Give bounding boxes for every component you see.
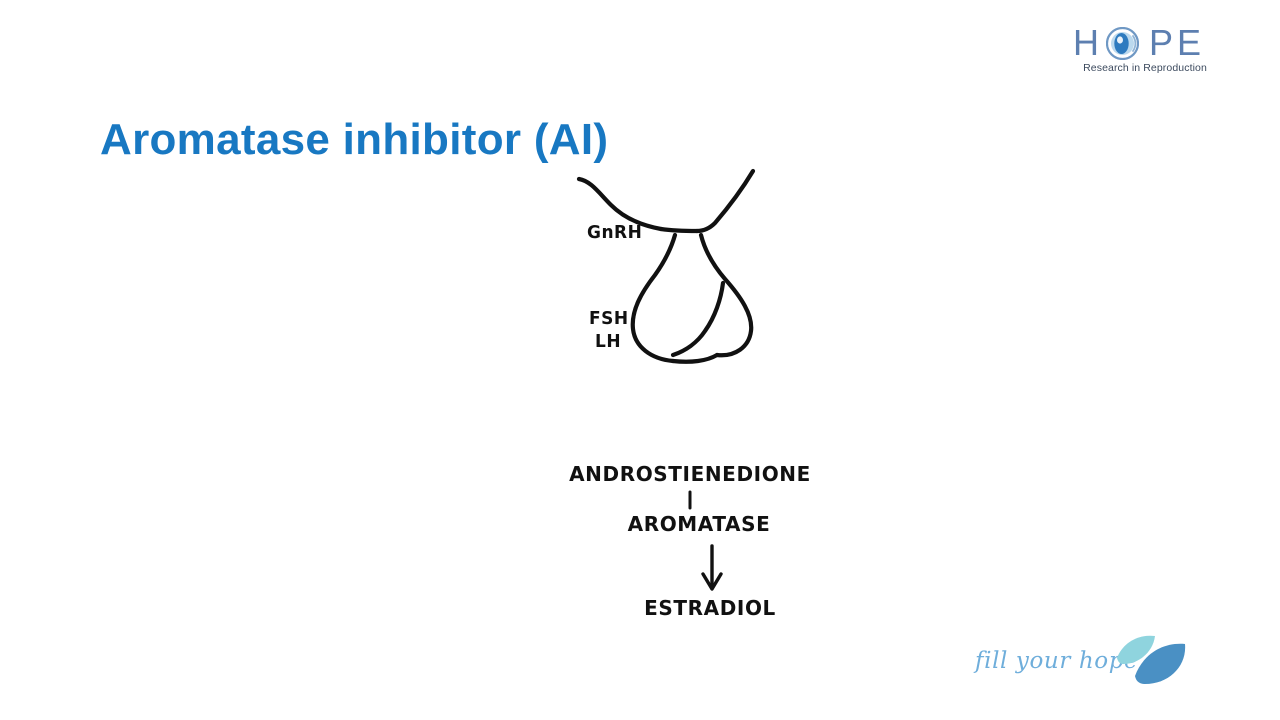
hope-logo-letter-e: E bbox=[1177, 24, 1201, 62]
sketch-label-fsh: FSH bbox=[589, 309, 629, 330]
hope-logo-tagline: Research in Reproduction bbox=[1075, 62, 1215, 74]
sketch-label-lh: LH bbox=[595, 332, 621, 353]
pathway-step-aromatase: AROMATASE bbox=[540, 512, 840, 536]
hope-logo-letter-p: P bbox=[1149, 24, 1173, 62]
page-title: Aromatase inhibitor (AI) bbox=[100, 113, 608, 167]
hope-logo: H P E Research in Reproduction bbox=[1073, 24, 1213, 84]
two-leaves-icon bbox=[1113, 632, 1193, 690]
slide-canvas: H P E Research in Reproduction Aromatase… bbox=[0, 0, 1280, 720]
pathway-step-estradiol: ESTRADIOL bbox=[540, 596, 840, 620]
pituitary-sketch-illustration: GnRH FSH LH bbox=[565, 165, 800, 380]
sketch-label-gnrh: GnRH bbox=[587, 223, 642, 244]
hope-eye-icon bbox=[1106, 27, 1139, 60]
hope-wordmark: H P E bbox=[1073, 24, 1213, 62]
down-arrow-icon bbox=[703, 546, 721, 589]
hope-logo-letter-h: H bbox=[1073, 24, 1099, 62]
footer-branding: fill your hope bbox=[975, 632, 1195, 694]
aromatase-pathway-diagram: ANDROSTIENEDIONE AROMATASE ESTRADIOL bbox=[540, 450, 840, 635]
